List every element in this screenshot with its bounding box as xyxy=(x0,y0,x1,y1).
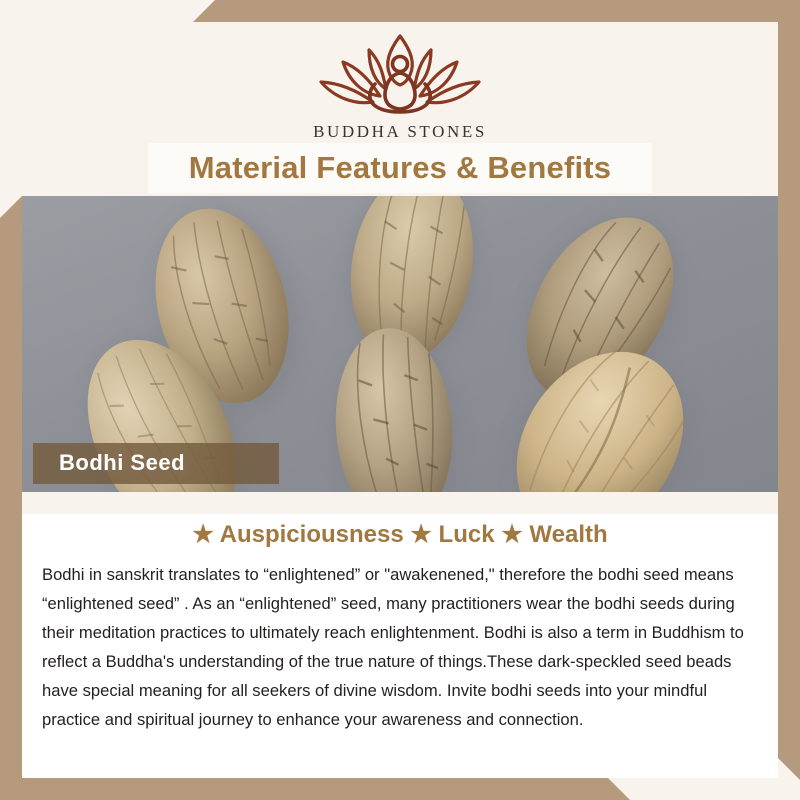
benefits-headline-text: ★ Auspiciousness ★ Luck ★ Wealth xyxy=(192,521,607,548)
product-photo: Bodhi Seed xyxy=(22,196,778,492)
frame-top-bar xyxy=(0,0,800,22)
description-paragraph: Bodhi in sanskrit translates to “enlight… xyxy=(42,560,760,734)
page-title: Material Features & Benefits xyxy=(189,150,612,186)
title-banner: Material Features & Benefits xyxy=(148,143,652,193)
benefits-headline: ★ Auspiciousness ★ Luck ★ Wealth xyxy=(22,520,778,549)
brand-logo: BUDDHA STONES xyxy=(22,28,778,142)
content-top-fade xyxy=(22,492,778,514)
content-section: ★ Auspiciousness ★ Luck ★ Wealth Bodhi i… xyxy=(22,492,778,778)
product-label-badge: Bodhi Seed xyxy=(33,443,279,484)
brand-name: BUDDHA STONES xyxy=(313,122,487,142)
frame-right-bar xyxy=(778,0,800,780)
lotus-meditation-logo-icon xyxy=(307,28,493,120)
header: BUDDHA STONES xyxy=(22,22,778,142)
frame-left-bar xyxy=(0,0,22,800)
poster: BUDDHA STONES Material Features & Benefi… xyxy=(0,0,800,800)
frame-bottom-bar xyxy=(0,778,800,800)
product-label-text: Bodhi Seed xyxy=(59,450,185,475)
